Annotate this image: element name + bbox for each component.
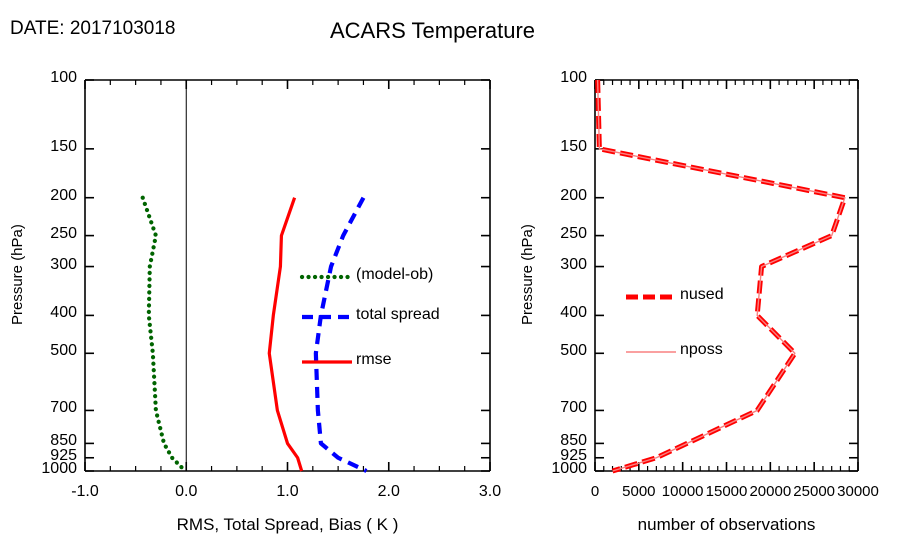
series-line-total-spread bbox=[316, 198, 367, 471]
counts-panel-y-ticks bbox=[595, 80, 858, 471]
y-tick-label-500: 500 bbox=[27, 342, 77, 360]
series-line--model-ob- bbox=[143, 198, 186, 471]
series-line-nposs bbox=[598, 80, 845, 471]
y-tick-label-200: 200 bbox=[27, 187, 77, 205]
x-tick-label-3.0: 3.0 bbox=[450, 483, 530, 501]
profile-panel-y-axis-title: Pressure (hPa) bbox=[9, 224, 26, 325]
y-tick-label-250: 250 bbox=[27, 225, 77, 243]
counts-panel-y-axis-title: Pressure (hPa) bbox=[519, 224, 536, 325]
counts-panel-frame bbox=[595, 80, 858, 471]
y-tick-label-400: 400 bbox=[537, 304, 587, 322]
x-tick-label-30000: 30000 bbox=[818, 483, 898, 500]
y-tick-label-100: 100 bbox=[27, 69, 77, 87]
y-tick-label-300: 300 bbox=[537, 256, 587, 274]
y-tick-label-150: 150 bbox=[27, 138, 77, 156]
series-line-nused bbox=[598, 80, 845, 471]
y-tick-label-300: 300 bbox=[27, 256, 77, 274]
legend-label-nused: nused bbox=[680, 286, 724, 304]
y-tick-label-400: 400 bbox=[27, 304, 77, 322]
y-tick-label-200: 200 bbox=[537, 187, 587, 205]
legend-label-nposs: nposs bbox=[680, 341, 723, 359]
x-tick-label-1.0: 1.0 bbox=[248, 483, 328, 501]
y-tick-label-700: 700 bbox=[537, 399, 587, 417]
x-tick-label-0.0: 0.0 bbox=[146, 483, 226, 501]
chart-canvas: DATE: 2017103018 ACARS Temperature 10015… bbox=[0, 0, 900, 560]
legend-label--model-ob-: (model-ob) bbox=[356, 266, 433, 284]
plot-svg bbox=[0, 0, 900, 560]
series-line-rmse bbox=[269, 198, 301, 471]
y-tick-label-100: 100 bbox=[537, 69, 587, 87]
y-tick-label-150: 150 bbox=[537, 138, 587, 156]
y-tick-label-700: 700 bbox=[27, 399, 77, 417]
legend-label-total-spread: total spread bbox=[356, 306, 440, 324]
y-tick-label-500: 500 bbox=[537, 342, 587, 360]
counts-panel-x-axis-title: number of observations bbox=[527, 515, 900, 535]
counts-panel-x-ticks bbox=[595, 80, 858, 471]
x-tick-label--1.0: -1.0 bbox=[45, 483, 125, 501]
legend-label-rmse: rmse bbox=[356, 351, 392, 369]
x-tick-label-2.0: 2.0 bbox=[349, 483, 429, 501]
y-tick-label-250: 250 bbox=[537, 225, 587, 243]
profile-panel-x-axis-title: RMS, Total Spread, Bias ( K ) bbox=[88, 515, 488, 535]
y-tick-label-1000: 1000 bbox=[27, 460, 77, 478]
y-tick-label-1000: 1000 bbox=[537, 460, 587, 478]
